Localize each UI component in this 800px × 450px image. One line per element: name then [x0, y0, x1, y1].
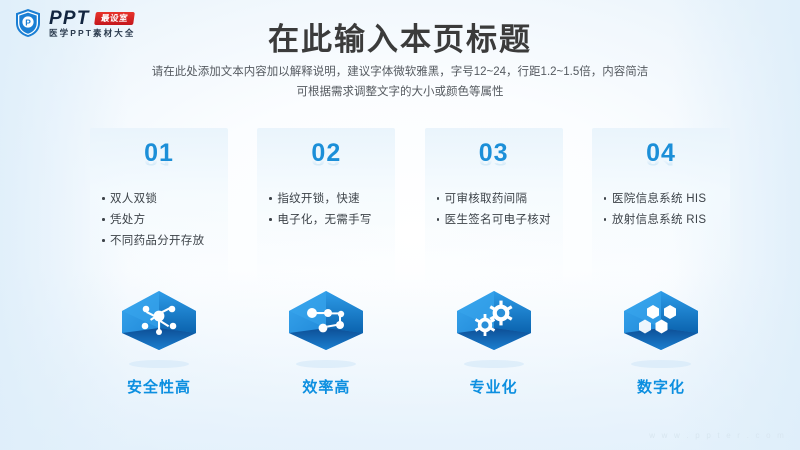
list-item: 电子化，无需手写 — [269, 211, 391, 229]
logo-badge: 最设室 — [94, 12, 135, 25]
card-03[interactable]: 03 03 可审核取药间隔 医生签名可电子核对 — [425, 128, 563, 288]
card-number-reflection: 01 — [90, 159, 228, 167]
card-number-reflection: 04 — [592, 159, 730, 167]
card-bullet-list: 可审核取药间隔 医生签名可电子核对 — [425, 190, 563, 229]
list-item: 指纹开锁，快速 — [269, 190, 391, 208]
hex-label: 安全性高 — [127, 380, 191, 395]
card-bullet-list: 医院信息系统 HIS 放射信息系统 RIS — [592, 190, 730, 229]
card-number-reflection: 02 — [257, 159, 395, 167]
hex-item-3[interactable]: 专业化 — [425, 288, 563, 418]
share-nodes-icon — [283, 288, 369, 370]
list-item: 可审核取药间隔 — [437, 190, 559, 208]
hex-item-2[interactable]: 效率高 — [257, 288, 395, 418]
hexagon-row: 安全性高 — [90, 288, 730, 418]
molecule-network-icon — [116, 288, 202, 370]
list-item: 双人双锁 — [102, 190, 224, 208]
shield-icon: P — [14, 8, 42, 38]
hex-label: 数字化 — [637, 380, 685, 395]
hex-item-1[interactable]: 安全性高 — [90, 288, 228, 418]
card-bullet-list: 指纹开锁，快速 电子化，无需手写 — [257, 190, 395, 229]
gears-icon — [451, 288, 537, 370]
card-04[interactable]: 04 04 医院信息系统 HIS 放射信息系统 RIS — [592, 128, 730, 288]
svg-text:P: P — [25, 18, 31, 28]
hexagon-badge-3 — [451, 288, 537, 370]
list-item: 医生签名可电子核对 — [437, 211, 559, 229]
logo-text-block: PPT 最设室 医学PPT素材大全 — [49, 9, 135, 38]
logo-tagline: 医学PPT素材大全 — [49, 29, 135, 38]
cards-row: 01 01 双人双锁 凭处方 不同药品分开存放 02 02 指纹开锁，快速 电子… — [90, 128, 730, 288]
slide-canvas: P PPT 最设室 医学PPT素材大全 在此输入本页标题 请在此处添加文本内容加… — [0, 0, 800, 450]
hexagon-badge-2 — [283, 288, 369, 370]
page-subtitle: 请在此处添加文本内容加以解释说明，建议字体微软雅黑，字号12~24，行距1.2~… — [0, 62, 800, 102]
hex-item-4[interactable]: 数字化 — [592, 288, 730, 418]
list-item: 医院信息系统 HIS — [604, 190, 726, 208]
logo-wordmark-row: PPT 最设室 — [49, 9, 135, 28]
card-number-reflection: 03 — [425, 159, 563, 167]
honeycomb-icon — [618, 288, 704, 370]
list-item: 不同药品分开存放 — [102, 232, 224, 250]
card-bullet-list: 双人双锁 凭处方 不同药品分开存放 — [90, 190, 228, 250]
hex-label: 效率高 — [302, 380, 350, 395]
subtitle-line-2: 可根据需求调整文字的大小或颜色等属性 — [0, 82, 800, 102]
hexagon-badge-1 — [116, 288, 202, 370]
hex-label: 专业化 — [470, 380, 518, 395]
card-02[interactable]: 02 02 指纹开锁，快速 电子化，无需手写 — [257, 128, 395, 288]
brand-logo[interactable]: P PPT 最设室 医学PPT素材大全 — [14, 8, 135, 38]
card-01[interactable]: 01 01 双人双锁 凭处方 不同药品分开存放 — [90, 128, 228, 288]
list-item: 放射信息系统 RIS — [604, 211, 726, 229]
logo-wordmark: PPT — [49, 9, 90, 28]
list-item: 凭处方 — [102, 211, 224, 229]
subtitle-line-1: 请在此处添加文本内容加以解释说明，建议字体微软雅黑，字号12~24，行距1.2~… — [0, 62, 800, 82]
hexagon-badge-4 — [618, 288, 704, 370]
site-watermark: w w w . p p t e r . c o m — [649, 431, 786, 440]
